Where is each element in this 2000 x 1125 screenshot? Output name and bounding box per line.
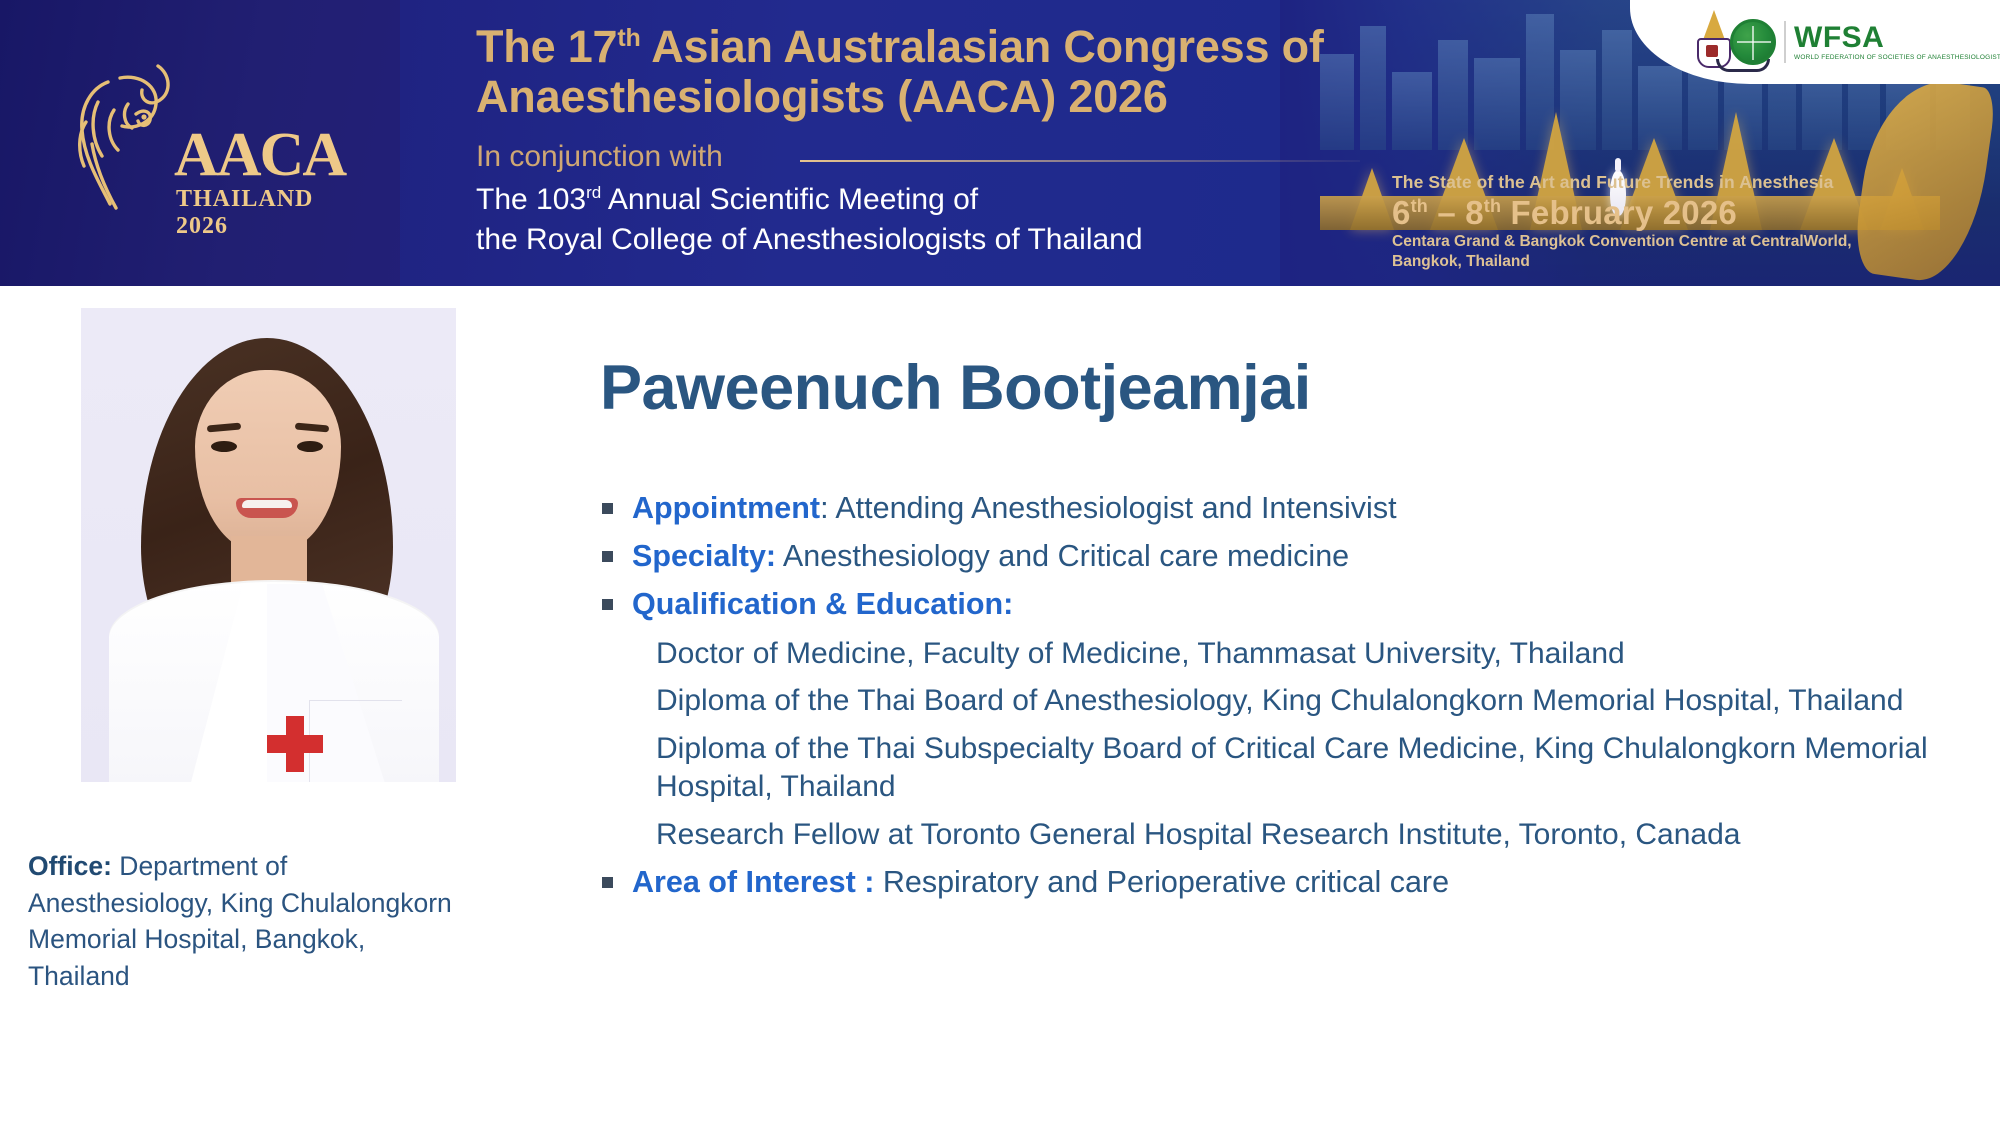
appointment-label: Appointment <box>632 491 820 525</box>
congress-venue: Centara Grand & Bangkok Convention Centr… <box>1392 232 1902 271</box>
wfsa-logo: WFSA WORLD FEDERATION OF SOCIETIES OF AN… <box>1730 19 2000 65</box>
congress-theme: The State of the Art and Future Trends i… <box>1392 172 1833 193</box>
congress-title-ordinal: th <box>617 24 640 52</box>
congress-title-l1-pre: The 17 <box>476 21 617 72</box>
aaca-acronym: AACA <box>174 124 345 186</box>
asm-ordinal: rd <box>586 183 601 202</box>
wfsa-subtitle: WORLD FEDERATION OF SOCIETIES OF ANAESTH… <box>1794 55 2000 62</box>
qualification-item: Diploma of the Thai Subspecialty Board o… <box>600 730 1940 806</box>
portrait-face <box>195 370 341 552</box>
date-mid: – 8 <box>1428 194 1484 231</box>
portrait-eye-right <box>297 441 323 452</box>
office-label: Office: <box>28 851 112 881</box>
congress-title-l1-post: Asian Australasian Congress of <box>641 21 1324 72</box>
wfsa-name: WFSA <box>1794 23 2000 53</box>
congress-banner: AACA THAILAND 2026 The 17th Asian Austra… <box>0 0 2000 286</box>
bullet-area-of-interest: Area of Interest : Respiratory and Perio… <box>600 864 1940 901</box>
area-of-interest-label: Area of Interest : <box>632 865 874 899</box>
in-conjunction-label: In conjunction with <box>476 140 723 174</box>
qualification-item: Doctor of Medicine, Faculty of Medicine,… <box>600 635 1940 673</box>
qualification-item: Diploma of the Thai Board of Anesthesiol… <box>600 682 1940 720</box>
qualification-sublist: Doctor of Medicine, Faculty of Medicine,… <box>600 635 1940 854</box>
specialty-label: Specialty: <box>632 539 776 573</box>
portrait-eye-left <box>211 441 237 452</box>
congress-title-l2: Anaesthesiologists (AACA) 2026 <box>476 71 1168 122</box>
appointment-separator: : <box>820 491 835 525</box>
header-rule <box>800 160 1360 162</box>
office-address: Office: Department of Anesthesiology, Ki… <box>28 848 458 994</box>
congress-dates: 6th – 8th February 2026 <box>1392 194 1737 232</box>
bullet-specialty: Specialty: Anesthesiology and Critical c… <box>600 538 1940 575</box>
speaker-details-list: Appointment: Attending Anesthesiologist … <box>600 490 1940 912</box>
annual-scientific-meeting: The 103rd Annual Scientific Meeting of t… <box>476 180 1143 259</box>
area-of-interest-value: Respiratory and Perioperative critical c… <box>883 865 1449 899</box>
specialty-separator <box>776 539 783 573</box>
area-of-interest-separator <box>874 865 882 899</box>
gold-curved-divider <box>332 0 452 286</box>
qualification-item: Research Fellow at Toronto General Hospi… <box>600 816 1940 854</box>
logo-divider <box>1784 21 1786 63</box>
globe-icon <box>1730 19 1776 65</box>
asm-l1-post: Annual Scientific Meeting of <box>601 183 978 216</box>
qualification-label: Qualification & Education: <box>632 587 1013 621</box>
aaca-logo: AACA THAILAND 2026 <box>56 26 316 236</box>
elephant-icon <box>62 48 192 218</box>
bullet-qualification: Qualification & Education: <box>600 586 1940 623</box>
asm-l2: the Royal College of Anesthesiologists o… <box>476 223 1143 256</box>
page-title: Paweenuch Bootjeamjai <box>600 352 1311 424</box>
specialty-value: Anesthesiology and Critical care medicin… <box>783 539 1349 573</box>
partner-logos-plate: WFSA WORLD FEDERATION OF SOCIETIES OF AN… <box>1630 0 2000 84</box>
asm-l1-pre: The 103 <box>476 183 586 216</box>
speaker-portrait-photo <box>81 308 456 782</box>
red-cross-icon <box>267 716 323 772</box>
congress-title: The 17th Asian Australasian Congress of … <box>476 22 1376 123</box>
date-sup-1: th <box>1411 196 1428 216</box>
portrait-mouth <box>236 498 298 518</box>
bullet-appointment: Appointment: Attending Anesthesiologist … <box>600 490 1940 527</box>
aaca-tagline: THAILAND 2026 <box>176 186 316 240</box>
date-post: February 2026 <box>1501 194 1737 231</box>
appointment-value: Attending Anesthesiologist and Intensivi… <box>835 491 1396 525</box>
date-pre: 6 <box>1392 194 1411 231</box>
date-sup-2: th <box>1484 196 1501 216</box>
